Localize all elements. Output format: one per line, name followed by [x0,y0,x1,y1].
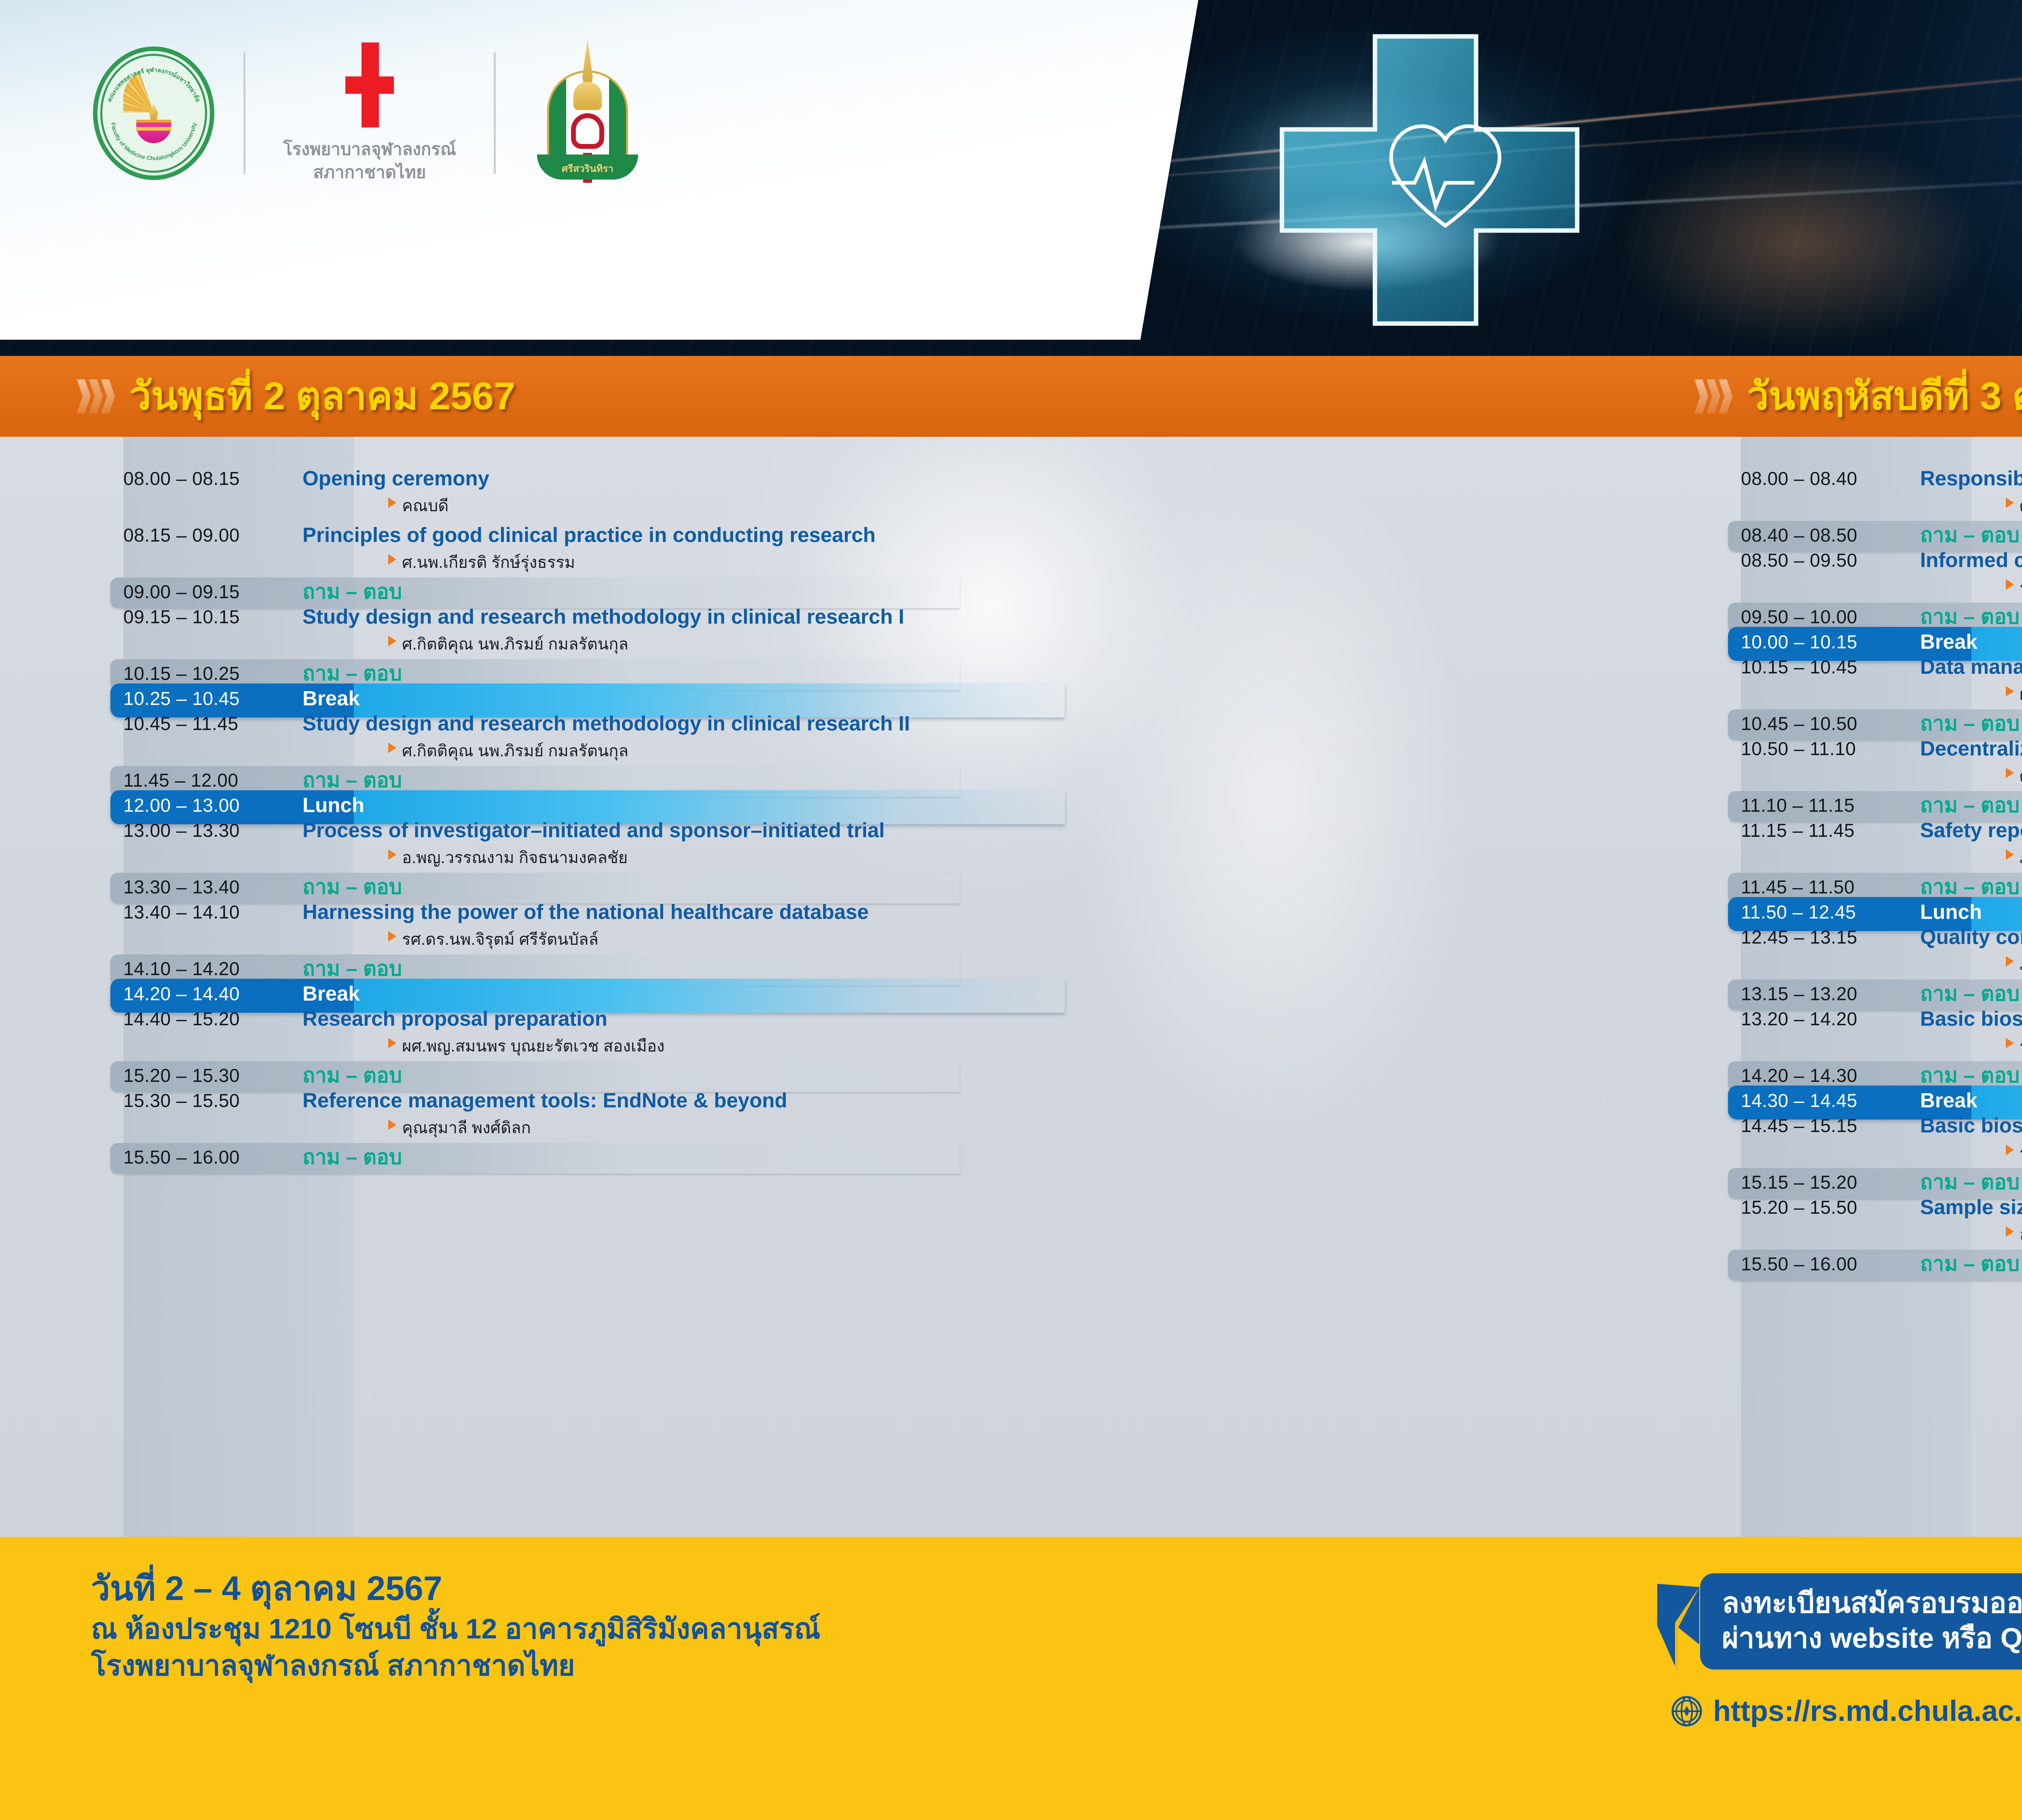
chula-ring-text-thai: คณะแพทยศาสตร์ จุฬาลงกรณ์มหาวิทยาลัย [106,67,201,103]
row-time: 11.45 – 12.00 [53,769,283,791]
row-title: Break [283,687,360,710]
hospital-name: โรงพยาบาลจุฬาลงกรณ์ สภากาชาดไทย [275,138,465,184]
title-line-3: GCP TRAINING 2024 [1759,174,2022,231]
chevron-icon [1694,379,1731,413]
row-speakers: ศ.นพ.เกียรติ รักษ์รุ่งธรรม [53,549,1492,575]
schedule-row: 09.00 – 09.15ถาม – ตอบ [53,579,1492,604]
row-title: Principles of good clinical practice in … [283,524,876,546]
schedule-row: 15.50 – 16.00ถาม – ตอบ [53,1145,1492,1170]
event-venue-line2: โรงพยาบาลจุฬาลงกรณ์ สภากาชาดไทย [91,1647,821,1684]
speaker-name: ศ.นพ.เกียรติ รักษ์รุ่งธรรม [388,549,575,575]
row-speakers: รศ.ดร.นพ.จิรุตม์ ศรีรัตนบัลล์ [53,926,1492,952]
row-title: ถาม – ตอบ [1901,1253,2020,1275]
speaker-name: อ.พญ.วรรณงาม กิจธนามงคลชัย [388,844,628,870]
row-title: Opening ceremony [283,467,489,490]
schedule-row: 15.20 – 15.30ถาม – ตอบ [53,1063,1492,1088]
row-speakers: คุณสุมาลี พงศ์ดิลก [53,1115,1492,1141]
schedule-row: 09.50 – 10.00ถาม – ตอบ [1670,604,2022,629]
schedule-row: 10.25 – 10.45Break [53,686,1492,711]
day2-schedule-column: 08.00 – 08.40Responsibilities of ethical… [1670,437,2022,1537]
row-title: ถาม – ตอบ [1901,1171,2020,1194]
schedule-row: 08.00 – 08.40Responsibilities of ethical… [1670,466,2022,518]
row-title: ถาม – ตอบ [1901,524,2020,546]
row-title: Informed consent/assent [1901,549,2022,571]
globe-icon [1671,1695,1703,1727]
day1-date-label: วันพุธที่ 2 ตุลาคม 2567 [129,377,515,416]
speaker-name: ภก.พิเชฐ กมลรุ่งสันติสุข [2006,844,2022,870]
row-title: Basic biostatistics I [1901,1007,2022,1030]
svg-text:คณะแพทยศาสตร์ จุฬาลงกรณ์มหาวิท: คณะแพทยศาสตร์ จุฬาลงกรณ์มหาวิทยาลัย [106,67,201,103]
row-speakers: ศ.กิตติคุณ นพ.ภิรมย์ กมลรัตนกุล [53,631,1492,657]
row-speakers: คณบดี [53,493,1492,518]
schedule-row: 13.00 – 13.30Process of investigator–ini… [53,818,1492,870]
row-title: Break [1901,1089,1978,1112]
speaker-name: ผศ.ดร.นพ.ชัยภัทร ชุณหรัศมิ์ [2006,681,2022,707]
schedule-row: 08.40 – 08.50ถาม – ตอบ [1670,523,2022,548]
day1-schedule-column: 08.00 – 08.15Opening ceremonyคณบดี08.15 … [53,437,1630,1537]
row-title: ถาม – ตอบ [1901,1064,2020,1087]
schedule-row: 15.30 – 15.50Reference management tools:… [53,1088,1492,1141]
speaker-name: ศ.กิตติคุณ นพ.ภิรมย์ กมลรัตนกุล [388,631,628,657]
row-title: Break [283,982,360,1005]
row-time: 13.00 – 13.30 [53,819,283,841]
row-time: 15.20 – 15.50 [1670,1196,1901,1218]
speaker-name: รศ.ดร.พญ.สารนาถ ล้อพูลศรีนิยม [2006,1033,2022,1059]
row-title: ถาม – ตอบ [283,1064,402,1087]
row-time: 13.15 – 13.20 [1670,983,1901,1005]
thai-red-cross-society-emblem: ศรีสวรินทิรา [525,44,650,182]
row-time: 15.20 – 15.30 [53,1064,283,1086]
row-time: 11.15 – 11.45 [1670,819,1901,841]
organization-logos: คณะแพทยศาสตร์ จุฬาลงกรณ์มหาวิทยาลัย Facu… [93,42,650,184]
row-time: 15.50 – 16.00 [1670,1253,1901,1275]
row-title: Quality control, quality assurance in cl… [1901,926,2022,948]
row-time: 13.40 – 14.10 [53,901,283,923]
row-time: 10.00 – 10.15 [1670,631,1901,653]
row-title: Study design and research methodology in… [283,605,904,628]
row-time: 09.50 – 10.00 [1670,606,1901,628]
row-time: 11.50 – 12.45 [1670,901,1901,923]
row-title: ถาม – ตอบ [283,580,402,603]
schedule-row: 13.30 – 13.40ถาม – ตอบ [53,874,1492,899]
row-title: ถาม – ตอบ [1901,605,2020,628]
chulalongkorn-faculty-of-medicine-logo: คณะแพทยศาสตร์ จุฬาลงกรณ์มหาวิทยาลัย Facu… [93,47,214,180]
title-line-2: IN CLINICAL TRIAL AND [1759,118,2022,170]
speaker-name: คุณสุมาลี พงศ์ดิลก [388,1115,531,1141]
row-time: 08.00 – 08.15 [53,468,283,489]
row-speakers: รศ.ดร.พญ.สารนาถ ล้อพูลศรีนิยม [1670,1033,2022,1059]
schedule-row: 11.15 – 11.45Safety report and SAE handl… [1670,818,2022,870]
row-title: ถาม – ตอบ [283,1146,402,1168]
registration-line1: ลงทะเบียนสมัครอบรมออนไลน์ [1722,1585,2022,1621]
schedule-row: 12.45 – 13.15Quality control, quality as… [1670,925,2022,977]
hospital-name-line2: สภากาชาดไทย [275,161,465,184]
row-time: 15.50 – 16.00 [53,1146,283,1168]
row-time: 14.40 – 15.20 [53,1008,283,1030]
schedule-row: 14.20 – 14.30ถาม – ตอบ [1670,1063,2022,1088]
schedule-row: 10.50 – 11.10Decentralized clinical tria… [1670,736,2022,789]
row-speakers: ศ.กิตติคุณ นพ.ภิรมย์ กมลรัตนกุล [53,738,1492,764]
row-speakers: ภก.พิเชฐ กมลรุ่งสันติสุข [1670,844,2022,870]
schedule-row: 14.45 – 15.15Basic biostatistics IIรศ.ดร… [1670,1113,2022,1166]
row-title: Lunch [1901,901,1982,923]
row-time: 14.45 – 15.15 [1670,1115,1901,1136]
row-title: Sample size calculation [1901,1196,2022,1219]
schedule-row: 11.45 – 12.00ถาม – ตอบ [53,768,1492,793]
chulalongkorn-hospital-logo: โรงพยาบาลจุฬาลงกรณ์ สภากาชาดไทย [275,42,465,184]
row-title: Decentralized clinical trial: Are we rea… [1901,737,2022,760]
logo-divider [494,53,496,174]
row-title: Process of investigator–initiated and sp… [283,819,885,842]
speaker-name: ผศ.พญ.สมนพร บุณยะรัตเวช สองเมือง [388,1033,664,1059]
registration-bubble[interactable]: ลงทะเบียนสมัครอบรมออนไลน์ ผ่านทาง websit… [1700,1573,2022,1670]
schedule-row: 15.15 – 15.20ถาม – ตอบ [1670,1170,2022,1195]
schedule-row: 11.50 – 12.45Lunch [1670,899,2022,925]
row-title: ถาม – ตอบ [283,662,402,685]
row-title: ถาม – ตอบ [283,769,402,791]
event-details: วันที่ 2 – 4 ตุลาคม 2567 ณ ห้องประชุม 12… [91,1569,821,1684]
schedule-row: 11.45 – 11.50ถาม – ตอบ [1670,874,2022,899]
row-title: ถาม – ตอบ [1901,712,2020,735]
speaker-name: รศ.ดร.พญ.สารนาถ ล้อพูลศรีนิยม [2006,1140,2022,1166]
row-speakers: อ.พญ.วรรณงาม กิจธนามงคลชัย [53,844,1492,870]
row-speakers: อ.ดร.ฤดา จองพิศาล [1670,1221,2022,1247]
speaker-name: ศ.นพ.อรรถพล ใจสำราญ [2006,493,2022,518]
day2-row-list: 08.00 – 08.40Responsibilities of ethical… [1670,466,2022,1276]
schedule-row: 08.50 – 09.50Informed consent/assentรศ.ด… [1670,548,2022,600]
event-date: วันที่ 2 – 4 ตุลาคม 2567 [91,1569,821,1607]
svg-text:Faculty of Medicine Chulalongk: Faculty of Medicine Chulalongkorn Univer… [110,122,197,161]
row-title: ถาม – ตอบ [283,876,402,898]
schedule-row: 10.45 – 10.50ถาม – ตอบ [1670,711,2022,736]
title-line-1: STANDARD COURSE [1759,61,2022,118]
speaker-name: รศ.ดร.นพ.ณัฐ คุณรังษีสมบูรณ์ [2006,574,2022,600]
day2-banner: วันพฤหัสบดีที่ 3 ตุลาคม 2567 [1610,356,2022,437]
schedule-row: 14.40 – 15.20Research proposal preparati… [53,1006,1492,1059]
schedule-row: 10.00 – 10.15Break [1670,629,2022,654]
red-cross-icon [345,42,394,127]
schedule-row: 09.15 – 10.15Study design and research m… [53,604,1492,657]
row-time: 13.30 – 13.40 [53,876,283,898]
row-title: ถาม – ตอบ [283,957,402,980]
logo-divider [243,53,245,174]
row-title: Research proposal preparation [283,1007,607,1030]
chevron-icon [77,379,113,413]
row-time: 08.15 – 09.00 [53,524,283,546]
row-time: 13.20 – 14.20 [1670,1008,1901,1030]
row-speakers: รศ.ดร.นพ.ณัฐ คุณรังษีสมบูรณ์ [1670,574,2022,600]
schedule-row: 13.20 – 14.20Basic biostatistics Iรศ.ดร.… [1670,1006,2022,1059]
row-time: 15.15 – 15.20 [1670,1171,1901,1193]
schedule-row: 08.15 – 09.00Principles of good clinical… [53,523,1492,575]
row-title: ถาม – ตอบ [1901,794,2020,817]
row-time: 08.40 – 08.50 [1670,524,1901,546]
schedule-area: 08.00 – 08.15Opening ceremonyคณบดี08.15 … [0,437,2022,1537]
row-speakers: ผศ.ดร.นพ.ชัยภัทร ชุณหรัศมิ์ [1670,681,2022,707]
speaker-name: ศ.กิตติคุณ นพ.ภิรมย์ กมลรัตนกุล [388,738,628,764]
row-title: Lunch [283,794,364,817]
row-title: Reference management tools: EndNote & be… [283,1089,787,1112]
arrow-icon [1654,1584,1703,1677]
row-speakers: ผศ.พญ.สมนพร บุณยะรัตเวช สองเมือง [53,1033,1492,1059]
schedule-row: 10.15 – 10.45Data management in digital … [1670,654,2022,707]
row-title: Study design and research methodology in… [283,712,910,735]
row-time: 10.15 – 10.25 [53,662,283,684]
row-time: 09.00 – 09.15 [53,581,283,603]
schedule-row: 08.00 – 08.15Opening ceremonyคณบดี [53,466,1492,518]
schedule-row: 10.45 – 11.45Study design and research m… [53,711,1492,764]
schedule-row: 10.15 – 10.25ถาม – ตอบ [53,661,1492,686]
row-time: 14.10 – 14.20 [53,958,283,980]
emblem-ribbon-text: ศรีสวรินทิรา [537,154,638,180]
row-title: ถาม – ตอบ [1901,982,2020,1005]
schedule-row: 13.15 – 13.20ถาม – ตอบ [1670,981,2022,1006]
row-time: 11.10 – 11.15 [1670,794,1901,816]
row-time: 10.45 – 10.50 [1670,713,1901,734]
row-time: 14.20 – 14.30 [1670,1064,1901,1086]
row-time: 14.30 – 14.45 [1670,1090,1901,1111]
speaker-name: รศ.ดร.นพ.จิรุตม์ ศรีรัตนบัลล์ [388,926,599,952]
schedule-row: 15.20 – 15.50Sample size calculationอ.ดร… [1670,1195,2022,1247]
row-title: Data management in digital era [1901,656,2022,678]
registration-line2: ผ่านทาง website หรือ QR code [1722,1621,2022,1656]
day2-date-label: วันพฤหัสบดีที่ 3 ตุลาคม 2567 [1747,377,2022,416]
row-time: 08.00 – 08.40 [1670,468,1901,489]
speaker-name: อ.ดร.ฤดา จองพิศาล [2006,1221,2022,1247]
hospital-name-line1: โรงพยาบาลจุฬาลงกรณ์ [275,138,465,161]
row-time: 10.15 – 10.45 [1670,656,1901,678]
row-speakers: รศ.ดร.พญ.สารนาถ ล้อพูลศรีนิยม [1670,1140,2022,1166]
schedule-row: 11.10 – 11.15ถาม – ตอบ [1670,793,2022,818]
speaker-name: ภก.พิเชฐ กมลรุ่งสันติสุข [2006,951,2022,977]
row-speakers: ภก.พิเชฐ กมลรุ่งสันติสุข [1670,951,2022,977]
event-venue-line1: ณ ห้องประชุม 1210 โซนบี ชั้น 12 อาคารภูม… [91,1610,821,1647]
medical-cross-graphic [1233,16,1678,356]
poster-header: คณะแพทยศาสตร์ จุฬาลงกรณ์มหาวิทยาลัย Facu… [0,0,2022,356]
day1-banner: วันพุธที่ 2 ตุลาคม 2567 [0,356,1610,437]
row-time: 11.45 – 11.50 [1670,876,1901,898]
chula-ring-text-english: Faculty of Medicine Chulalongkorn Univer… [110,122,197,161]
schedule-row: 14.10 – 14.20ถาม – ตอบ [53,956,1492,981]
row-time: 10.50 – 11.10 [1670,738,1901,760]
row-title: ถาม – ตอบ [1901,876,2020,898]
row-time: 08.50 – 09.50 [1670,549,1901,571]
poster-title: STANDARD COURSE IN CLINICAL TRIAL AND GC… [1759,61,2022,231]
day1-row-list: 08.00 – 08.15Opening ceremonyคณบดี08.15 … [53,466,1630,1170]
schedule-row: 14.20 – 14.40Break [53,981,1492,1006]
row-title: Responsibilities of ethical committee in… [1901,467,2022,490]
speaker-name: คณบดี [388,493,448,518]
row-time: 14.20 – 14.40 [53,983,283,1005]
row-time: 15.30 – 15.50 [53,1090,283,1111]
registration-callout: ลงทะเบียนสมัครอบรมออนไลน์ ผ่านทาง websit… [1654,1573,2022,1728]
schedule-row: 13.40 – 14.10Harnessing the power of the… [53,899,1492,952]
schedule-row: 12.00 – 13.00Lunch [53,793,1492,818]
row-time: 10.45 – 11.45 [53,713,283,734]
schedule-row: 15.50 – 16.00ถาม – ตอบ [1670,1251,2022,1276]
row-title: Harnessing the power of the national hea… [283,901,869,923]
speaker-name: ศ.พญ.ธันยวีร์ ภูธนกิจ [2006,763,2022,789]
row-time: 09.15 – 10.15 [53,606,283,628]
registration-url[interactable]: https://rs.md.chula.ac.th/event/sct2024 [1713,1695,2022,1728]
row-time: 12.00 – 13.00 [53,794,283,816]
row-speakers: ศ.นพ.อรรถพล ใจสำราญผศ.พญ.พรู ตัณฑ์ไพโรจน… [1670,493,2022,518]
row-time: 12.45 – 13.15 [1670,926,1901,948]
row-title: Basic biostatistics II [1901,1114,2022,1137]
row-title: Safety report and SAE handling [1901,819,2022,842]
row-speakers: ศ.พญ.ธันยวีร์ ภูธนกิจ [1670,763,2022,789]
schedule-row: 14.30 – 14.45Break [1670,1088,2022,1113]
row-title: Break [1901,631,1978,653]
row-time: 10.25 – 10.45 [53,688,283,709]
